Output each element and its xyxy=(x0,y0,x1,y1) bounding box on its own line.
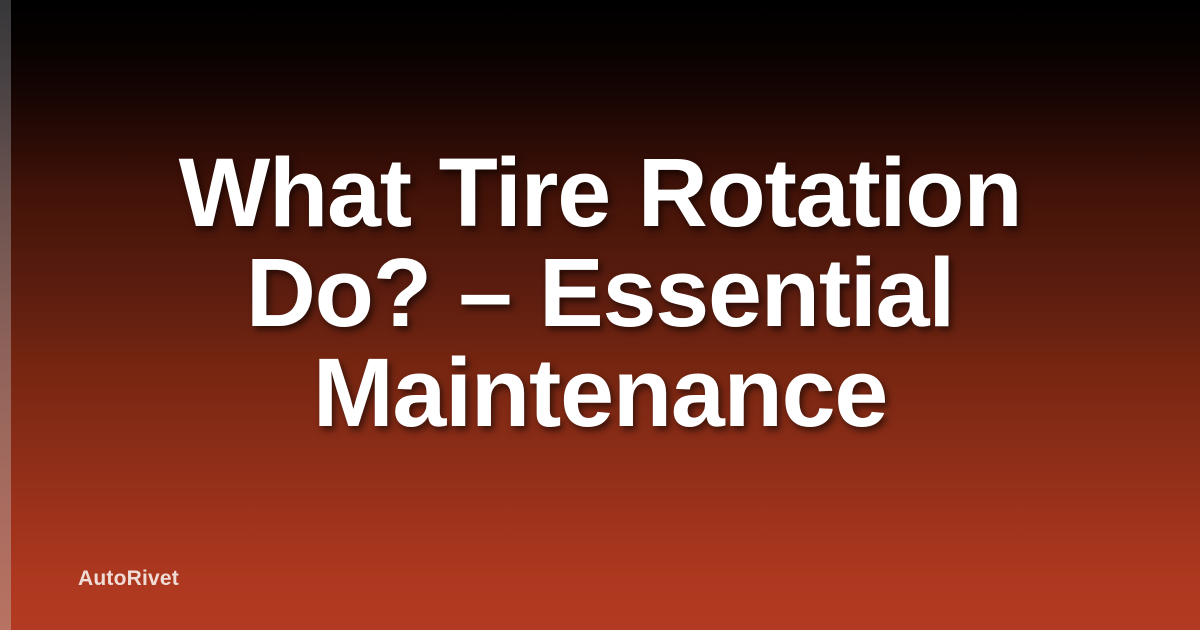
brand-logo-wordmark: AutoRivet xyxy=(78,566,179,592)
page-title: What Tire Rotation Do? – Essential Maint… xyxy=(0,143,1200,443)
social-share-card: What Tire Rotation Do? – Essential Maint… xyxy=(0,0,1200,630)
